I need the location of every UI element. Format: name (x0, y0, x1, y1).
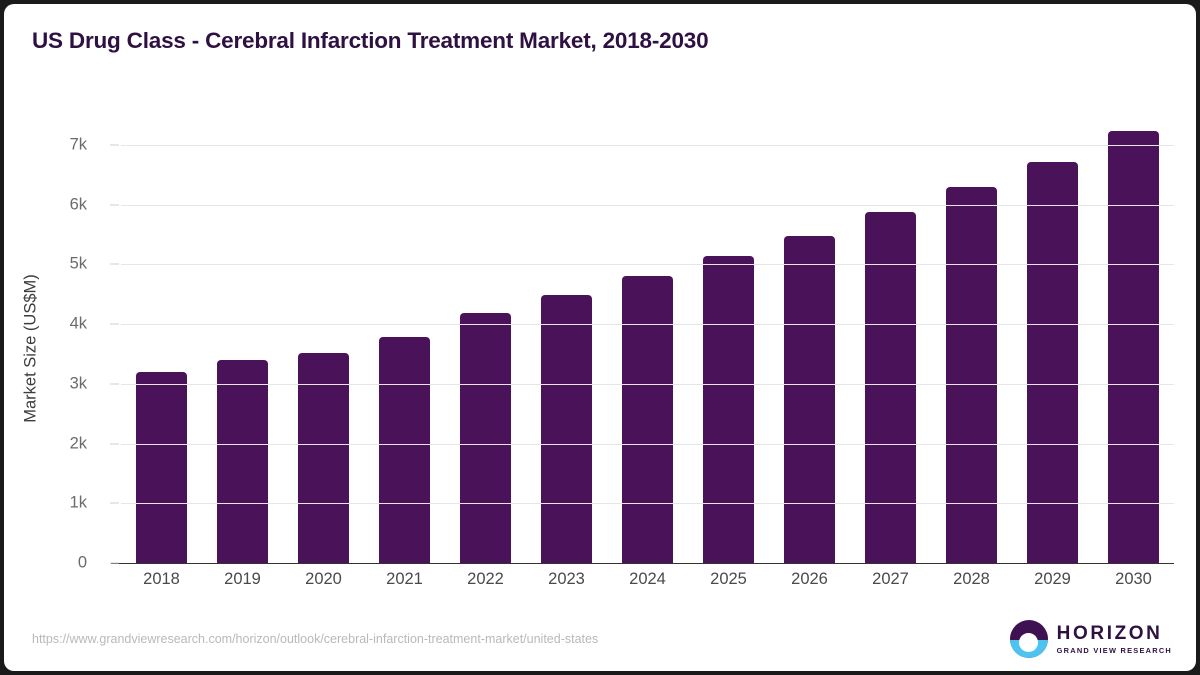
source-url[interactable]: https://www.grandviewresearch.com/horizo… (32, 632, 598, 646)
bar-slot (121, 115, 202, 563)
x-tick-label-2024: 2024 (607, 570, 688, 589)
chart-card: US Drug Class - Cerebral Infarction Trea… (4, 4, 1196, 671)
bar-2030[interactable] (1108, 131, 1159, 563)
gridline (121, 264, 1174, 265)
y-tick-mark (110, 443, 119, 444)
x-tick-label-2019: 2019 (202, 570, 283, 589)
y-tick-label: 1k (17, 494, 87, 513)
gridline (121, 503, 1174, 504)
bar-slot (202, 115, 283, 563)
x-tick-label-2029: 2029 (1012, 570, 1093, 589)
y-tick-label: 5k (17, 255, 87, 274)
y-tick-mark (110, 324, 119, 325)
bar-2022[interactable] (460, 313, 511, 563)
bar-2018[interactable] (136, 372, 187, 563)
x-axis-labels: 2018201920202021202220232024202520262027… (121, 570, 1174, 589)
y-tick-mark (110, 144, 119, 145)
y-tick-label: 4k (17, 315, 87, 334)
logo-text-block: HORIZON GRAND VIEW RESEARCH (1057, 624, 1172, 654)
y-tick-label: 7k (17, 135, 87, 154)
bar-2019[interactable] (217, 360, 268, 563)
y-tick-mark (110, 204, 119, 205)
y-tick-label: 2k (17, 434, 87, 453)
y-tick-label: 6k (17, 195, 87, 214)
x-tick-label-2025: 2025 (688, 570, 769, 589)
bar-slot (931, 115, 1012, 563)
chart-plot: Market Size (US$M) 01k2k3k4k5k6k7k 20182… (4, 4, 1196, 671)
x-tick-label-2020: 2020 (283, 570, 364, 589)
y-tick-mark (110, 383, 119, 384)
bar-slot (769, 115, 850, 563)
logo-ray-1 (1021, 644, 1036, 646)
logo-wordmark: HORIZON (1057, 624, 1172, 643)
bar-2024[interactable] (622, 276, 673, 563)
bar-slot (283, 115, 364, 563)
gridline (121, 384, 1174, 385)
gridline (121, 145, 1174, 146)
bar-series (121, 115, 1174, 563)
horizon-sunrise-icon (1010, 620, 1048, 658)
bar-2026[interactable] (784, 236, 835, 563)
gridline (121, 444, 1174, 445)
plot-area: 01k2k3k4k5k6k7k (121, 115, 1174, 563)
horizon-logo: HORIZON GRAND VIEW RESEARCH (1010, 620, 1172, 658)
bar-slot (688, 115, 769, 563)
y-tick-label: 0 (17, 554, 87, 573)
y-tick-mark (110, 503, 119, 504)
logo-tagline: GRAND VIEW RESEARCH (1057, 647, 1172, 654)
bar-2021[interactable] (379, 337, 430, 563)
x-tick-label-2028: 2028 (931, 570, 1012, 589)
logo-ray-2 (1024, 648, 1034, 650)
bar-slot (364, 115, 445, 563)
x-tick-label-2023: 2023 (526, 570, 607, 589)
x-tick-label-2027: 2027 (850, 570, 931, 589)
bar-2023[interactable] (541, 295, 592, 563)
x-tick-label-2018: 2018 (121, 570, 202, 589)
y-tick-mark (110, 563, 119, 564)
bar-2025[interactable] (703, 256, 754, 563)
x-tick-label-2021: 2021 (364, 570, 445, 589)
bar-slot (1093, 115, 1174, 563)
bar-slot (607, 115, 688, 563)
y-tick-label: 3k (17, 374, 87, 393)
gridline (121, 324, 1174, 325)
x-tick-label-2022: 2022 (445, 570, 526, 589)
x-tick-label-2026: 2026 (769, 570, 850, 589)
bar-2028[interactable] (946, 187, 997, 563)
bar-slot (445, 115, 526, 563)
bar-slot (526, 115, 607, 563)
bar-slot (1012, 115, 1093, 563)
x-tick-label-2030: 2030 (1093, 570, 1174, 589)
y-tick-mark (110, 264, 119, 265)
gridline (121, 205, 1174, 206)
bar-slot (850, 115, 931, 563)
